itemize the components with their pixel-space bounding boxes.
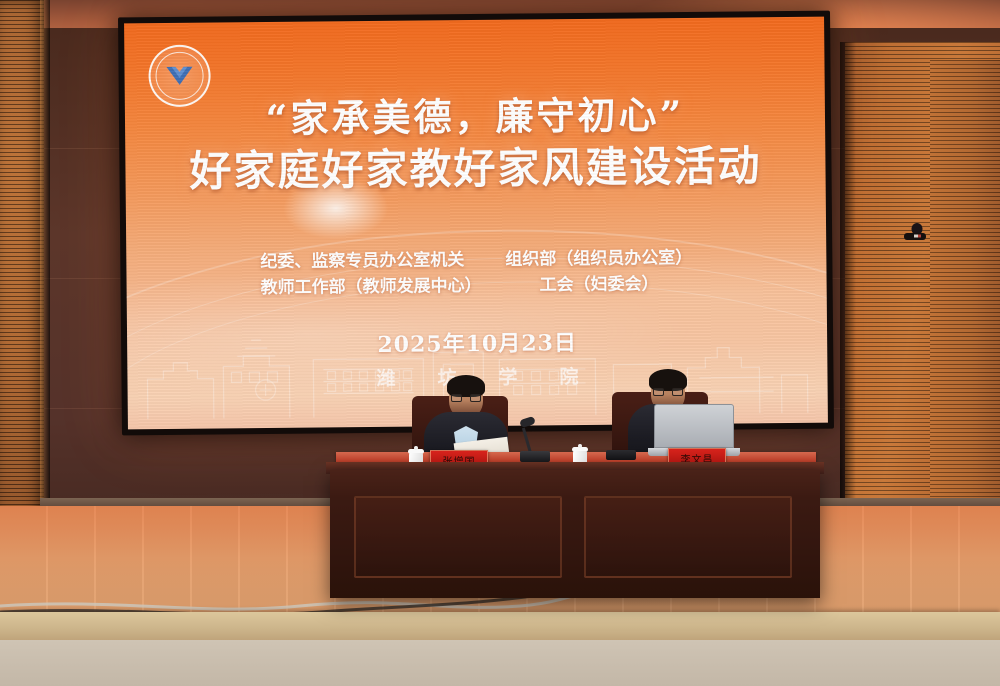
left-wood-panel-edge <box>40 0 50 540</box>
gooseneck-microphone <box>516 418 552 462</box>
stage-edge-step <box>0 612 1000 642</box>
screen-scanlines <box>124 17 828 430</box>
front-floor <box>0 640 1000 686</box>
glasses-icon <box>451 394 481 402</box>
wall-corner-shadow <box>840 42 856 542</box>
led-screen-content: “家承美德，廉守初心” 好家庭好家教好家风建设活动 纪委、监察专员办公室机关 教… <box>124 17 828 430</box>
wall-camera-icon <box>902 222 928 244</box>
desk-control-unit <box>606 450 636 460</box>
table-panel <box>584 496 792 578</box>
led-screen: “家承美德，廉守初心” 好家庭好家教好家风建设活动 纪委、监察专员办公室机关 教… <box>118 11 834 436</box>
right-wood-panel-side <box>930 60 1000 530</box>
presidium-table <box>330 470 820 598</box>
table-panel <box>354 496 562 578</box>
glasses-icon <box>653 388 683 396</box>
conference-hall-photo: “家承美德，廉守初心” 好家庭好家教好家风建设活动 纪委、监察专员办公室机关 教… <box>0 0 1000 686</box>
left-wood-panel <box>0 0 44 540</box>
